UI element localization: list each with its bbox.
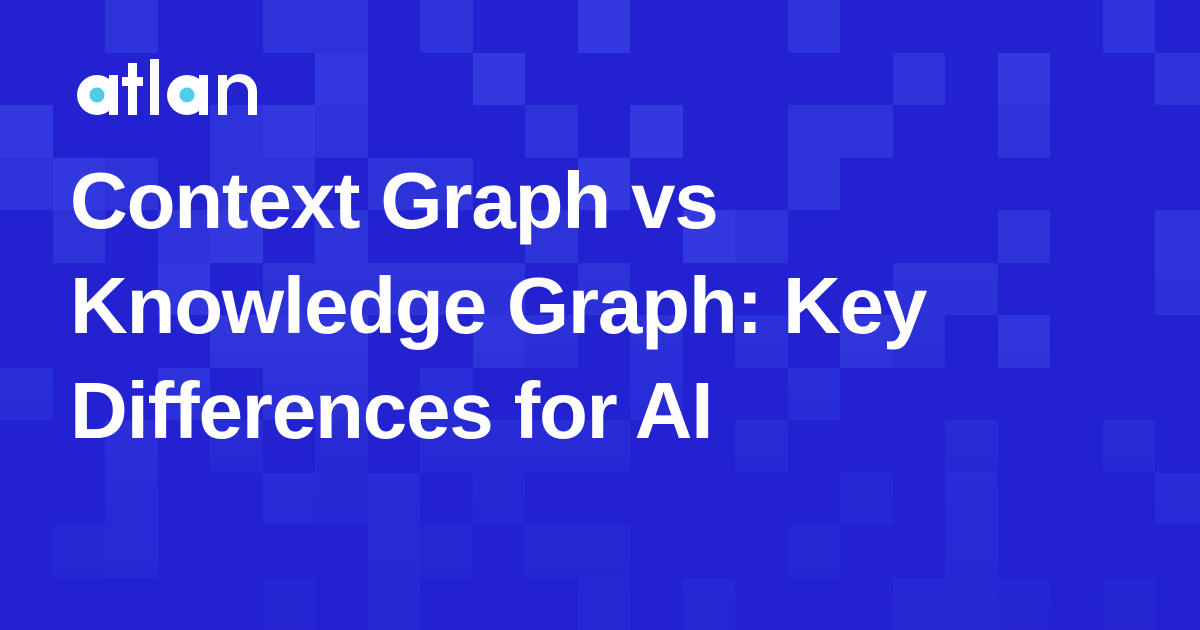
pattern-square (945, 473, 998, 526)
logo-dot-icon (90, 88, 105, 103)
pattern-square (840, 473, 893, 526)
pattern-square (0, 368, 53, 421)
pattern-square (368, 525, 421, 578)
pattern-square (315, 473, 368, 526)
title-line-2: Knowledge Graph: Key (70, 253, 1140, 358)
pattern-square (1155, 53, 1200, 106)
pattern-square (998, 578, 1051, 630)
pattern-square (788, 0, 841, 53)
pattern-square (315, 0, 368, 53)
logo-dot-icon (180, 88, 195, 103)
pattern-square (1155, 263, 1200, 316)
atlan-wordmark-n-icon (218, 55, 262, 117)
pattern-square (420, 0, 473, 53)
pattern-square (105, 525, 158, 578)
pattern-square (1155, 473, 1200, 526)
pattern-square (893, 53, 946, 106)
atlan-logo[interactable] (70, 55, 262, 117)
pattern-square (263, 578, 316, 630)
pattern-square (473, 473, 526, 526)
pattern-square (998, 53, 1051, 106)
atlan-wordmark-icon (70, 55, 222, 117)
pattern-square (893, 578, 946, 630)
pattern-square (1103, 0, 1156, 53)
title-line-3: Differences for AI (70, 358, 1140, 463)
pattern-square (315, 53, 368, 106)
pattern-square (368, 578, 421, 630)
pattern-square (945, 578, 998, 630)
pattern-square (788, 525, 841, 578)
pattern-square (105, 0, 158, 53)
pattern-square (1155, 210, 1200, 263)
pattern-square (1103, 578, 1156, 630)
pattern-square (368, 473, 421, 526)
title-line-1: Context Graph vs (70, 148, 1140, 253)
pattern-square (420, 525, 473, 578)
pattern-square (578, 525, 631, 578)
pattern-square (0, 105, 53, 158)
pattern-square (578, 0, 631, 53)
pattern-square (105, 473, 158, 526)
pattern-square (0, 158, 53, 211)
pattern-square (945, 525, 998, 578)
pattern-square (263, 0, 316, 53)
pattern-square (525, 525, 578, 578)
pattern-square (53, 525, 106, 578)
page-title: Context Graph vs Knowledge Graph: Key Di… (70, 148, 1140, 463)
pattern-square (683, 578, 736, 630)
pattern-square (578, 578, 631, 630)
pattern-square (263, 473, 316, 526)
pattern-square (473, 53, 526, 106)
og-card: Context Graph vs Knowledge Graph: Key Di… (0, 0, 1200, 630)
